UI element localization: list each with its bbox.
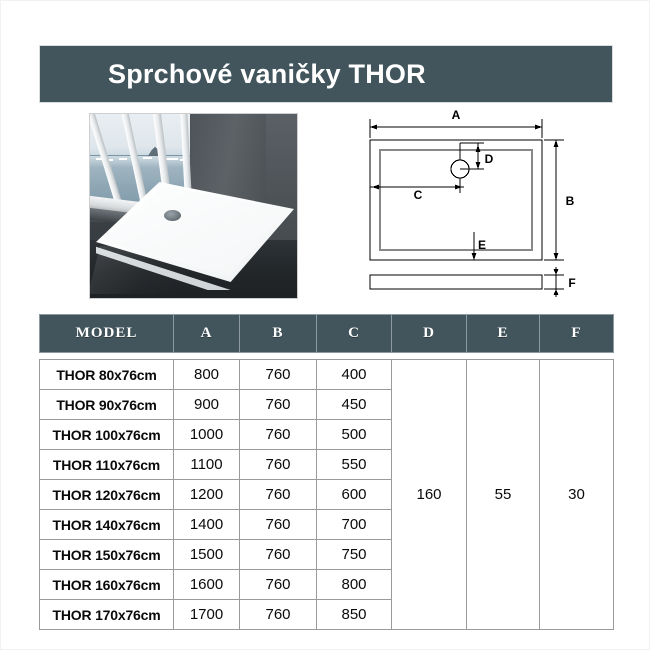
cell-model: THOR 120x76cm: [40, 480, 174, 510]
cell-c: 700: [317, 510, 392, 540]
column-header-b: B: [240, 315, 317, 353]
cell-a: 1200: [174, 480, 240, 510]
cell-a: 900: [174, 390, 240, 420]
cell-model: THOR 140x76cm: [40, 510, 174, 540]
dimension-label-e: E: [478, 238, 486, 252]
technical-drawing: A B C D E F: [356, 107, 611, 305]
cell-f-merged: 30: [540, 360, 614, 630]
cell-c: 500: [317, 420, 392, 450]
column-header-c: C: [317, 315, 392, 353]
cell-model: THOR 80x76cm: [40, 360, 174, 390]
product-photo: [89, 113, 298, 299]
column-header-f: F: [540, 315, 614, 353]
column-header-e: E: [467, 315, 540, 353]
column-header-d: D: [392, 315, 467, 353]
cell-b: 760: [240, 480, 317, 510]
cell-model: THOR 170x76cm: [40, 600, 174, 630]
dimension-label-c: C: [414, 188, 423, 202]
cell-c: 750: [317, 540, 392, 570]
specification-table: MODEL A B C D E F THOR 80x76cm 800 760 4…: [39, 314, 614, 630]
cell-a: 1000: [174, 420, 240, 450]
cell-b: 760: [240, 570, 317, 600]
photo-scene: [90, 114, 297, 298]
drain-icon: [164, 210, 181, 221]
cell-b: 760: [240, 450, 317, 480]
cell-c: 450: [317, 390, 392, 420]
cell-d-merged: 160: [392, 360, 467, 630]
table-header-row: MODEL A B C D E F: [40, 315, 614, 353]
cell-b: 760: [240, 540, 317, 570]
dimension-label-d: D: [485, 152, 494, 166]
cell-b: 760: [240, 420, 317, 450]
dimension-label-a: A: [452, 108, 461, 122]
boat-mark: [166, 158, 178, 160]
table-row: THOR 80x76cm 800 760 400 160 55 30: [40, 360, 614, 390]
cell-a: 1600: [174, 570, 240, 600]
page-title: Sprchové vaničky THOR: [40, 59, 426, 90]
cell-b: 760: [240, 510, 317, 540]
cell-model: THOR 160x76cm: [40, 570, 174, 600]
cell-e-merged: 55: [467, 360, 540, 630]
table-spacer-row: [40, 353, 614, 360]
cell-model: THOR 150x76cm: [40, 540, 174, 570]
column-header-model: MODEL: [40, 315, 174, 353]
cell-c: 600: [317, 480, 392, 510]
cell-b: 760: [240, 600, 317, 630]
column-header-a: A: [174, 315, 240, 353]
cell-a: 1500: [174, 540, 240, 570]
dimension-label-f: F: [568, 276, 575, 290]
product-spec-page: Sprchové vaničky THOR: [0, 0, 650, 650]
cell-model: THOR 90x76cm: [40, 390, 174, 420]
boat-mark: [119, 158, 127, 160]
title-banner: Sprchové vaničky THOR: [39, 45, 613, 103]
cell-a: 1400: [174, 510, 240, 540]
boat-mark: [143, 157, 152, 159]
cell-c: 400: [317, 360, 392, 390]
cell-b: 760: [240, 390, 317, 420]
cell-model: THOR 100x76cm: [40, 420, 174, 450]
cell-a: 1700: [174, 600, 240, 630]
cell-b: 760: [240, 360, 317, 390]
cell-model: THOR 110x76cm: [40, 450, 174, 480]
cell-c: 850: [317, 600, 392, 630]
cell-a: 1100: [174, 450, 240, 480]
dimension-label-b: B: [566, 194, 575, 208]
shower-tray: [96, 182, 294, 290]
cell-a: 800: [174, 360, 240, 390]
cell-c: 550: [317, 450, 392, 480]
cell-c: 800: [317, 570, 392, 600]
